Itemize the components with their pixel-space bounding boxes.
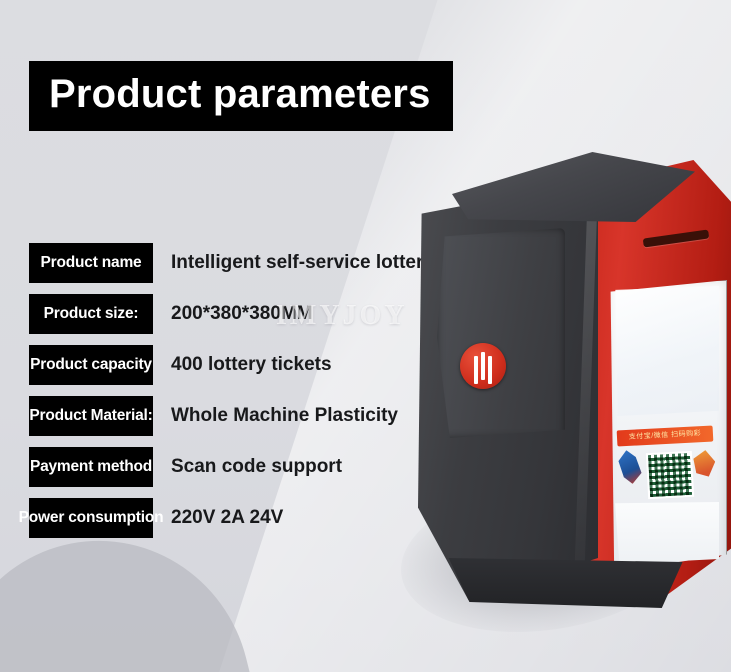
spec-label-power-consumption: Power consumption — [29, 498, 153, 538]
machine-display-upper-glow — [611, 286, 719, 416]
spec-label-product-material: Product Material: — [29, 396, 153, 436]
page-title: Product parameters — [49, 69, 431, 119]
page-title-block: Product parameters — [29, 61, 453, 131]
qr-code-icon — [646, 451, 694, 499]
machine-display-lower-panel — [613, 502, 719, 564]
machine-base — [433, 558, 693, 608]
spec-value-payment-method: Scan code support — [171, 456, 342, 478]
spec-value-product-capacity: 400 lottery tickets — [171, 354, 332, 376]
product-parameters-page: Product parameters Product name Intellig… — [0, 0, 731, 672]
spec-value-product-material: Whole Machine Plasticity — [171, 405, 398, 427]
spec-value-product-size: 200*380*380MM — [171, 303, 313, 325]
spec-label-product-name: Product name — [29, 243, 153, 283]
spec-label-product-size: Product size: — [29, 294, 153, 334]
machine-logo-icon — [460, 343, 506, 389]
product-photo: 支付宝/微信 扫码购彩 — [385, 150, 731, 640]
spec-label-payment-method: Payment method — [29, 447, 153, 487]
machine-front-inset — [437, 228, 565, 438]
spec-label-product-capacity: Product capacity — [29, 345, 153, 385]
spec-value-power-consumption: 220V 2A 24V — [171, 507, 283, 529]
